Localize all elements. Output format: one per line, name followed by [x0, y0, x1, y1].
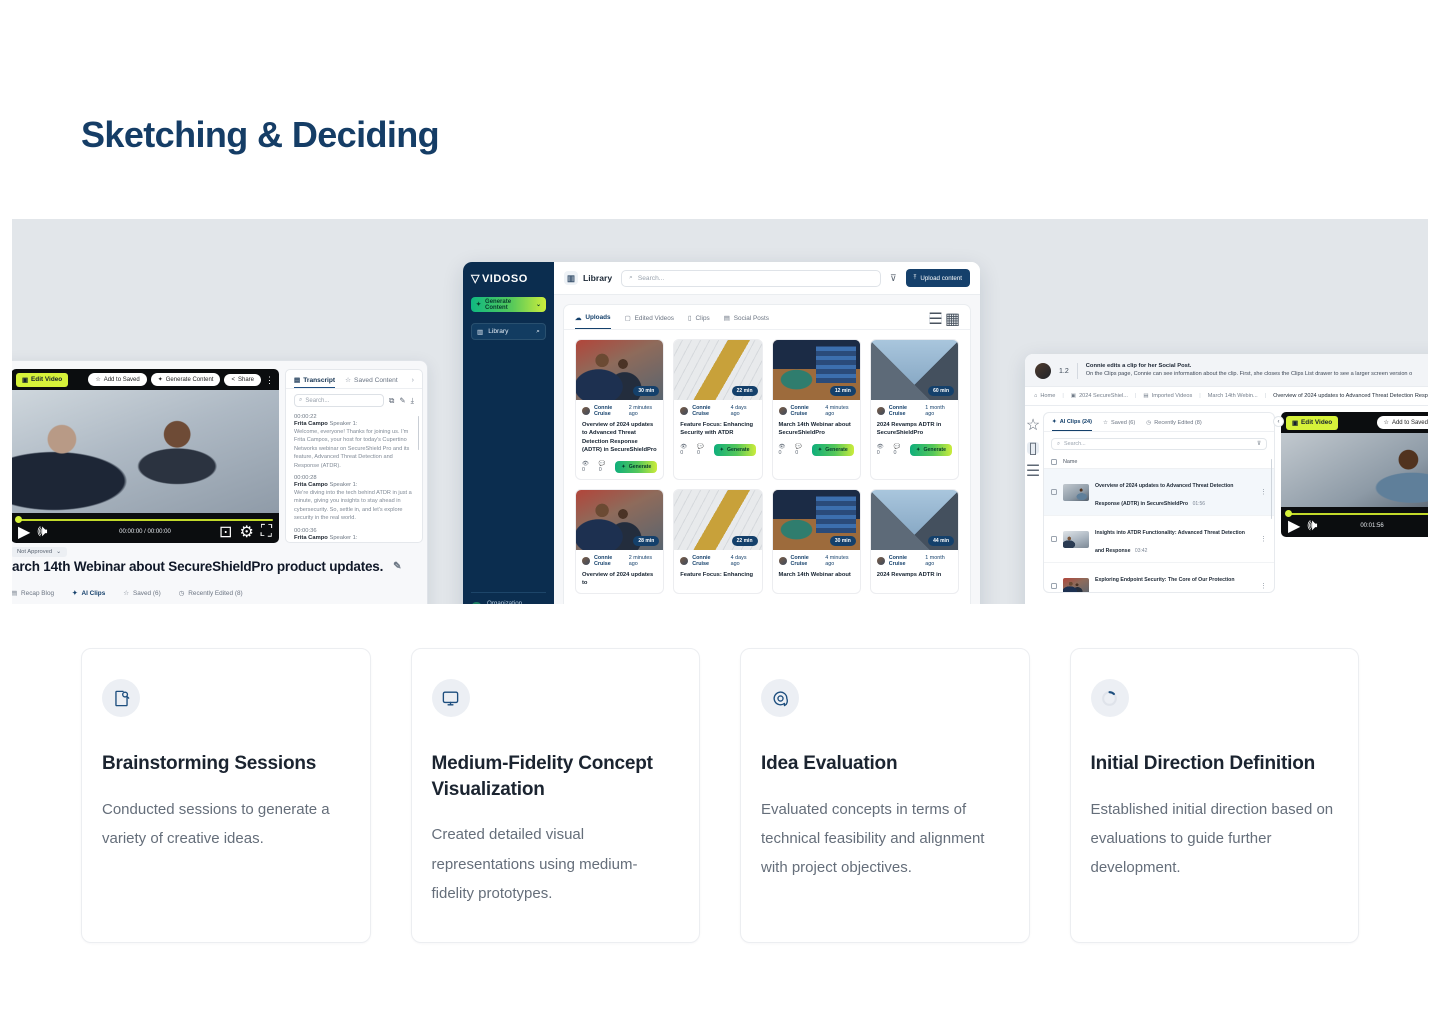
add-to-saved-button[interactable]: ☆ Add to Saved — [1377, 416, 1428, 429]
views-count: 👁 0 — [779, 444, 789, 456]
clip-row[interactable]: Exploring Endpoint Security: The Core of… — [1044, 563, 1274, 593]
avatar — [680, 557, 688, 565]
showcase-band: ▣ Edit Video ☆ Add to Saved ✦ Generate C… — [12, 219, 1428, 604]
org-avatar — [471, 602, 482, 605]
search-icon: ⌕ — [629, 274, 633, 282]
timestamp: 4 days ago — [731, 555, 756, 567]
chevron-right-icon[interactable]: › — [412, 377, 414, 384]
document-icon: ▤ — [12, 589, 17, 597]
transcript-timestamp: 00:00:36 — [294, 528, 414, 534]
feature-card: Idea Evaluation Evaluated concepts in te… — [740, 648, 1030, 943]
author-name: Connie Cruise — [791, 555, 822, 567]
clip-video-player[interactable]: ▣ Edit Video ☆ Add to Saved ✦ — [1281, 412, 1428, 537]
video-stage — [12, 390, 279, 513]
edit-video-button[interactable]: ▣ Edit Video — [16, 373, 68, 387]
copy-icon[interactable]: ⧉ — [389, 396, 394, 406]
clip-duration: 01:56 — [1193, 501, 1206, 507]
search-icon: ⌕ — [1057, 441, 1060, 448]
filter-icon[interactable]: ⊽ — [890, 273, 897, 284]
feature-card-title: Idea Evaluation — [761, 751, 1009, 777]
feature-card-description: Established initial direction based on e… — [1091, 795, 1339, 883]
share-button[interactable]: < Share — [224, 374, 261, 386]
annotation-heading: Connie edits a clip for her Social Post. — [1086, 363, 1412, 369]
library-icon: ▥ — [564, 271, 578, 285]
clips-list-header: Name — [1044, 456, 1274, 469]
library-header: ▥ Library ⌕ Search... ⊽ ⤒ Upload content — [554, 262, 980, 295]
card-title: 2024 Revamps ADTR in SecureShieldPro — [877, 421, 952, 438]
more-options-icon[interactable]: ⋮ — [265, 377, 274, 383]
clips-body: ☆ ▯ ☰ ✦ AI Clips (24) ☆ Saved (6) ◷ — [1025, 406, 1428, 599]
column-header-name: Name — [1063, 459, 1077, 465]
transcript-speaker: Frita Campo Speaker 1: — [294, 535, 414, 541]
avatar — [582, 557, 590, 565]
author-name: Connie Cruise — [889, 555, 922, 567]
search-icon: ⌕ — [299, 397, 302, 404]
card-title: Overview of 2024 updates to — [582, 571, 657, 588]
feature-cards: Brainstorming Sessions Conducted session… — [81, 648, 1359, 943]
library-card[interactable]: 22 min Connie Cruise 4 days ago Feature … — [673, 339, 762, 480]
clip-row[interactable]: Overview of 2024 updates to Advanced Thr… — [1044, 469, 1274, 516]
clip-thumbnail — [1063, 578, 1089, 594]
duration-badge: 12 min — [830, 386, 856, 396]
row-checkbox[interactable] — [1051, 489, 1057, 495]
transcript-panel: ▤ Transcript ☆ Saved Content › ⌕ Search.… — [285, 369, 423, 543]
home-icon: ⌂ — [1034, 393, 1037, 399]
breadcrumb-webinar[interactable]: March 14th Webin... — [1208, 393, 1258, 399]
filter-icon[interactable]: ⊽ — [1257, 441, 1261, 447]
clock-icon: ◷ — [1146, 420, 1151, 426]
card-title: March 14th Webinar about SecureShieldPro — [779, 421, 854, 438]
clip-scrubber[interactable] — [1287, 513, 1428, 515]
tab-saved-content[interactable]: ☆ Saved Content — [345, 376, 398, 384]
feature-card-title: Brainstorming Sessions — [102, 751, 350, 777]
avatar — [779, 407, 787, 415]
brand-logo: ▽ VIDOSO — [471, 272, 546, 285]
row-checkbox[interactable] — [1051, 583, 1057, 589]
row-menu-icon[interactable]: ⋮ — [1260, 537, 1267, 542]
edit-icon: ▣ — [22, 376, 28, 384]
clip-controls: ▶ 🕪 00:01:56 — [1281, 517, 1428, 535]
transcript-timestamp: 00:00:28 — [294, 475, 414, 481]
library-tabs: ☁ Uploads ▢ Edited Videos ▯ Clips ▤ Soci… — [564, 305, 970, 330]
transcript-entry: 00:00:28 Frita Campo Speaker 1: We're di… — [294, 475, 414, 523]
social-icon: ▤ — [724, 314, 730, 322]
duration-badge: 30 min — [633, 386, 659, 396]
row-menu-icon[interactable]: ⋮ — [1260, 490, 1267, 495]
transcript-tabs: ▤ Transcript ☆ Saved Content › — [286, 370, 422, 389]
feature-card: Medium-Fidelity Concept Visualization Cr… — [411, 648, 701, 943]
video-scrubber[interactable] — [17, 519, 273, 521]
feature-card-title: Medium-Fidelity Concept Visualization — [432, 751, 680, 802]
card-title: 2024 Revamps ADTR in — [877, 571, 952, 579]
sparkle-icon: ✦ — [1052, 419, 1057, 425]
feature-card: Brainstorming Sessions Conducted session… — [81, 648, 371, 943]
timestamp: 1 month ago — [925, 405, 952, 417]
timestamp: 2 minutes ago — [629, 555, 658, 567]
clips-list-scrollbar[interactable] — [1271, 459, 1273, 519]
views-count: 👁 0 — [877, 444, 887, 456]
video-frame-image — [12, 390, 279, 513]
tab-clips[interactable]: ▯ Clips — [688, 314, 710, 328]
generate-button[interactable]: ✦ Generate — [714, 444, 756, 456]
author-name: Connie Cruise — [791, 405, 822, 417]
transcript-text: We're diving into the tech behind ATDR i… — [294, 489, 414, 523]
tab-transcript[interactable]: ▤ Transcript — [294, 376, 335, 388]
library-card[interactable]: 60 min Connie Cruise 1 month ago 2024 Re… — [870, 339, 959, 480]
breadcrumb-separator: | — [1135, 393, 1136, 399]
search-icon: ⌕ — [536, 328, 540, 336]
annotation-body: On the Clips page, Connie can see inform… — [1086, 371, 1412, 377]
transcript-entry: 00:00:22 Frita Campo Speaker 1: Welcome,… — [294, 414, 414, 470]
select-all-checkbox[interactable] — [1051, 459, 1057, 465]
tab-recently-edited[interactable]: ◷ Recently Edited (8) — [179, 589, 243, 597]
annotation-callout: 1.2 Connie edits a clip for her Social P… — [1025, 354, 1428, 386]
row-checkbox[interactable] — [1051, 536, 1057, 542]
timestamp: 2 minutes ago — [629, 405, 658, 417]
timestamp: 4 days ago — [731, 405, 756, 417]
video-time: 00:00:00 / 00:00:00 — [12, 529, 279, 535]
clip-title: Insights into ATDR Functionality: Advanc… — [1095, 530, 1245, 554]
library-card[interactable]: 30 min Connie Cruise 2 minutes ago Overv… — [575, 339, 664, 480]
generate-button[interactable]: ✦ Generate — [615, 461, 657, 473]
sparkle-icon: ✦ — [72, 589, 77, 597]
sidebar-item-library[interactable]: ▥ Library ⌕ — [471, 323, 546, 340]
sparkle-icon: ✦ — [476, 301, 481, 308]
star-icon: ☆ — [1384, 419, 1389, 426]
video-player-toolbar: ▣ Edit Video ☆ Add to Saved ✦ Generate C… — [12, 369, 279, 390]
views-count: 👁 0 — [582, 461, 592, 473]
clip-frame-image — [1281, 433, 1428, 507]
generate-button[interactable]: ✦ Generate — [812, 444, 854, 456]
duration-badge: 22 min — [732, 536, 758, 546]
content-tabs: ▤ Recap Blog ✦ AI Clips ☆ Saved (6) ◷ Re… — [12, 589, 243, 597]
duration-badge: 60 min — [928, 386, 954, 396]
comments-count: 💬 0 — [894, 444, 904, 456]
transcript-scrollbar[interactable] — [418, 416, 420, 450]
generate-content-button[interactable]: ✦ Generate Content ⌄ — [471, 297, 546, 312]
edit-video-button[interactable]: ▣ Edit Video — [1286, 416, 1338, 430]
feature-card: Initial Direction Definition Established… — [1070, 648, 1360, 943]
row-menu-icon[interactable]: ⋮ — [1260, 584, 1267, 589]
video-icon: ▤ — [1143, 393, 1148, 399]
avatar — [680, 407, 688, 415]
transcript-icon: ▤ — [294, 376, 300, 384]
views-count: 👁 0 — [680, 444, 690, 456]
view-mode-toggle: ☰ ▦ — [929, 313, 959, 329]
clip-thumbnail — [1063, 484, 1089, 501]
clips-list-drawer: ✦ AI Clips (24) ☆ Saved (6) ◷ Recently E… — [1043, 412, 1275, 593]
search-input[interactable]: ⌕ Search... — [621, 270, 881, 287]
tab-ai-clips[interactable]: ✦ AI Clips — [72, 589, 105, 597]
transcript-search-input[interactable]: ⌕ Search... — [294, 394, 384, 407]
logo-mark-icon: ▽ — [471, 272, 480, 285]
transcript-entry: 00:00:36 Frita Campo Speaker 1: — [294, 528, 414, 541]
star-icon: ☆ — [95, 376, 100, 383]
upload-content-button[interactable]: ⤒ Upload content — [906, 269, 970, 287]
library-main: ▥ Library ⌕ Search... ⊽ ⤒ Upload content… — [554, 262, 980, 604]
library-card[interactable]: 28 min Connie Cruise 2 minutes ago Overv… — [575, 489, 664, 595]
duration-badge: 30 min — [830, 536, 856, 546]
duration-badge: 28 min — [633, 536, 659, 546]
clips-page-mock: 1.2 Connie edits a clip for her Social P… — [1025, 354, 1428, 604]
feature-card-description: Created detailed visual representations … — [432, 820, 680, 908]
chat-bubble-icon — [761, 679, 799, 717]
author-name: Connie Cruise — [692, 405, 726, 417]
breadcrumb-imported-videos[interactable]: ▤ Imported Videos — [1143, 393, 1192, 399]
transcript-body: 00:00:22 Frita Campo Speaker 1: Welcome,… — [286, 412, 422, 543]
list-view-icon[interactable]: ☰ — [929, 313, 942, 324]
video-controls: ▶ 🕪 00:00:00 / 00:00:00 ⊡ ⚙ ⛶ — [12, 523, 279, 541]
clock-icon: ◷ — [179, 589, 185, 597]
transcript-speaker: Frita Campo Speaker 1: — [294, 482, 414, 488]
status-badge[interactable]: Not Approved ⌄ — [12, 547, 67, 557]
add-to-saved-button[interactable]: ☆ Add to Saved — [88, 373, 146, 386]
library-sidebar: ▽ VIDOSO ✦ Generate Content ⌄ ▥ Library … — [463, 262, 554, 604]
comments-count: 💬 0 — [599, 461, 609, 473]
feature-card-description: Conducted sessions to generate a variety… — [102, 795, 350, 854]
video-actions: ☆ Add to Saved ✦ Generate Content < Shar… — [88, 373, 274, 386]
card-title: Feature Focus: Enhancing — [680, 571, 755, 579]
edit-title-pencil-icon[interactable]: ✎ — [393, 561, 401, 572]
card-title: Overview of 2024 updates to Advanced Thr… — [582, 421, 657, 455]
tab-uploads[interactable]: ☁ Uploads — [575, 314, 611, 329]
annotation-number: 1.2 — [1059, 363, 1078, 379]
clip-player-panel: ‹ ▣ Edit Video ☆ Add to Saved — [1281, 412, 1428, 593]
generate-content-button[interactable]: ✦ Generate Content — [151, 373, 221, 386]
tab-recap-blog[interactable]: ▤ Recap Blog — [12, 589, 54, 597]
avatar — [877, 557, 885, 565]
breadcrumb-home[interactable]: ⌂ Home — [1034, 393, 1055, 399]
tab-social-posts[interactable]: ▤ Social Posts — [724, 314, 769, 328]
clips-search-input[interactable]: ⌕ Search... ⊽ — [1051, 438, 1267, 450]
clip-time: 00:01:56 — [1281, 523, 1428, 529]
grid-view-icon[interactable]: ▦ — [946, 313, 959, 324]
feature-card-description: Evaluated concepts in terms of technical… — [761, 795, 1009, 883]
author-name: Connie Cruise — [594, 405, 625, 417]
breadcrumb-current: Overview of 2024 updates to Advanced Thr… — [1273, 393, 1428, 399]
tab-ai-clips[interactable]: ✦ AI Clips (24) — [1052, 419, 1092, 431]
breadcrumb-folder[interactable]: ▣ 2024 SecureShiel... — [1071, 393, 1128, 399]
collapse-drawer-button[interactable]: ‹ — [1273, 416, 1284, 427]
avatar — [582, 407, 590, 415]
star-icon[interactable]: ☆ — [1026, 415, 1040, 435]
avatar — [877, 407, 885, 415]
clip-title: Exploring Endpoint Security: The Core of… — [1095, 577, 1235, 593]
comments-count: 💬 0 — [795, 444, 805, 456]
edit-icon: ▣ — [1292, 419, 1298, 427]
transcript-search-row: ⌕ Search... ⧉ ✎ ⤓ — [286, 389, 422, 412]
video-title: March 14th Webinar about SecureShieldPro… — [12, 559, 401, 574]
sidebar-item-org-settings[interactable]: Organization Settings — [471, 592, 546, 604]
page-title: Sketching & Deciding — [81, 114, 439, 156]
comments-count: 💬 0 — [697, 444, 707, 456]
upload-icon: ⤒ — [914, 274, 917, 282]
breadcrumb: ⌂ Home | ▣ 2024 SecureShiel... | ▤ Impor… — [1025, 386, 1428, 406]
share-icon: < — [231, 377, 235, 383]
transcript-timestamp: 00:00:22 — [294, 414, 414, 420]
generate-button[interactable]: ✦ Generate — [910, 444, 952, 456]
clips-icon: ▯ — [688, 314, 692, 322]
library-grid: 30 min Connie Cruise 2 minutes ago Overv… — [564, 330, 970, 603]
folder-icon: ▣ — [1071, 393, 1076, 399]
left-rail: ☆ ▯ ☰ — [1025, 406, 1041, 599]
clip-thumbnail — [1063, 531, 1089, 548]
duration-badge: 44 min — [928, 536, 954, 546]
star-icon: ☆ — [123, 589, 129, 597]
star-icon: ☆ — [345, 376, 351, 384]
chevron-down-icon: ⌄ — [56, 549, 61, 555]
breadcrumb-separator: | — [1265, 393, 1266, 399]
avatar — [1035, 363, 1051, 379]
timestamp: 4 minutes ago — [825, 555, 854, 567]
transcript-speaker: Frita Campo Speaker 1: — [294, 421, 414, 427]
clip-duration: 03:42 — [1135, 548, 1148, 554]
clip-row[interactable]: Insights into ATDR Functionality: Advanc… — [1044, 516, 1274, 563]
video-detail-mock: ▣ Edit Video ☆ Add to Saved ✦ Generate C… — [12, 360, 428, 604]
duration-badge: 22 min — [732, 386, 758, 396]
clips-tabs: ✦ AI Clips (24) ☆ Saved (6) ◷ Recently E… — [1044, 413, 1274, 432]
monitor-icon — [432, 679, 470, 717]
tab-saved[interactable]: ☆ Saved (6) — [1103, 420, 1135, 431]
tab-saved[interactable]: ☆ Saved (6) — [123, 589, 160, 597]
breadcrumb: ▥ Library — [564, 271, 612, 285]
library-mock: ▽ VIDOSO ✦ Generate Content ⌄ ▥ Library … — [463, 262, 980, 604]
author-name: Connie Cruise — [692, 555, 726, 567]
layers-icon[interactable]: ☰ — [1026, 461, 1040, 481]
star-icon: ☆ — [1103, 420, 1108, 426]
document-search-icon — [102, 679, 140, 717]
spinner-icon — [1091, 679, 1129, 717]
sparkle-icon: ✦ — [158, 376, 163, 383]
clip-title: Overview of 2024 updates to Advanced Thr… — [1095, 483, 1233, 507]
film-icon: ▢ — [625, 314, 631, 322]
author-name: Connie Cruise — [889, 405, 922, 417]
panel-icon[interactable]: ▯ — [1027, 442, 1039, 454]
card-title: March 14th Webinar about — [779, 571, 854, 579]
timestamp: 4 minutes ago — [825, 405, 854, 417]
download-icon[interactable]: ⤓ — [411, 396, 414, 406]
breadcrumb-separator: | — [1199, 393, 1200, 399]
clip-player-toolbar: ▣ Edit Video ☆ Add to Saved ✦ — [1281, 412, 1428, 433]
library-card[interactable]: 22 min Connie Cruise 4 days ago Feature … — [673, 489, 762, 595]
pencil-icon[interactable]: ✎ — [399, 396, 405, 405]
library-icon: ▥ — [477, 328, 483, 336]
library-card[interactable]: 12 min Connie Cruise 4 minutes ago March… — [772, 339, 861, 480]
card-title: Feature Focus: Enhancing Security with A… — [680, 421, 755, 438]
author-name: Connie Cruise — [594, 555, 625, 567]
tab-edited-videos[interactable]: ▢ Edited Videos — [625, 314, 674, 328]
cloud-upload-icon: ☁ — [575, 314, 581, 322]
breadcrumb-separator: | — [1062, 393, 1063, 399]
chevron-down-icon: ⌄ — [536, 301, 541, 308]
transcript-text: Welcome, everyone! Thanks for joining us… — [294, 428, 414, 470]
library-content-card: ☁ Uploads ▢ Edited Videos ▯ Clips ▤ Soci… — [563, 304, 971, 604]
avatar — [779, 557, 787, 565]
video-player[interactable]: ▣ Edit Video ☆ Add to Saved ✦ Generate C… — [12, 369, 279, 543]
tab-recently-edited[interactable]: ◷ Recently Edited (8) — [1146, 420, 1201, 431]
library-card[interactable]: 30 min Connie Cruise 4 minutes ago March… — [772, 489, 861, 595]
library-card[interactable]: 44 min Connie Cruise 1 month ago 2024 Re… — [870, 489, 959, 595]
timestamp: 1 month ago — [925, 555, 952, 567]
feature-card-title: Initial Direction Definition — [1091, 751, 1339, 777]
